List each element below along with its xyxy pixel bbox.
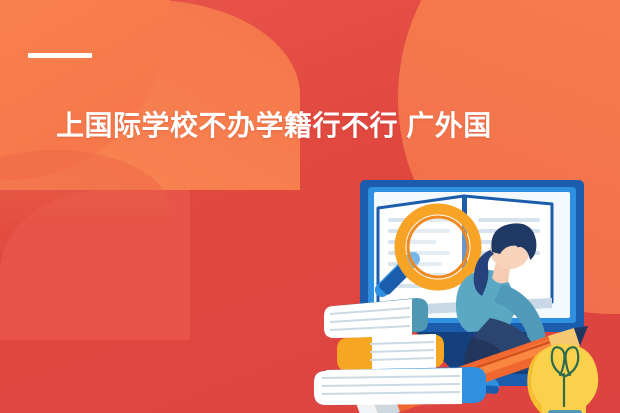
banner-card: 上国际学校不办学籍行不行 广外国 (0, 0, 620, 413)
accent-rule (28, 53, 92, 58)
student-research-illustration (312, 178, 620, 413)
lightbulb-icon (527, 344, 598, 413)
page-title: 上国际学校不办学籍行不行 广外国 (56, 104, 616, 148)
